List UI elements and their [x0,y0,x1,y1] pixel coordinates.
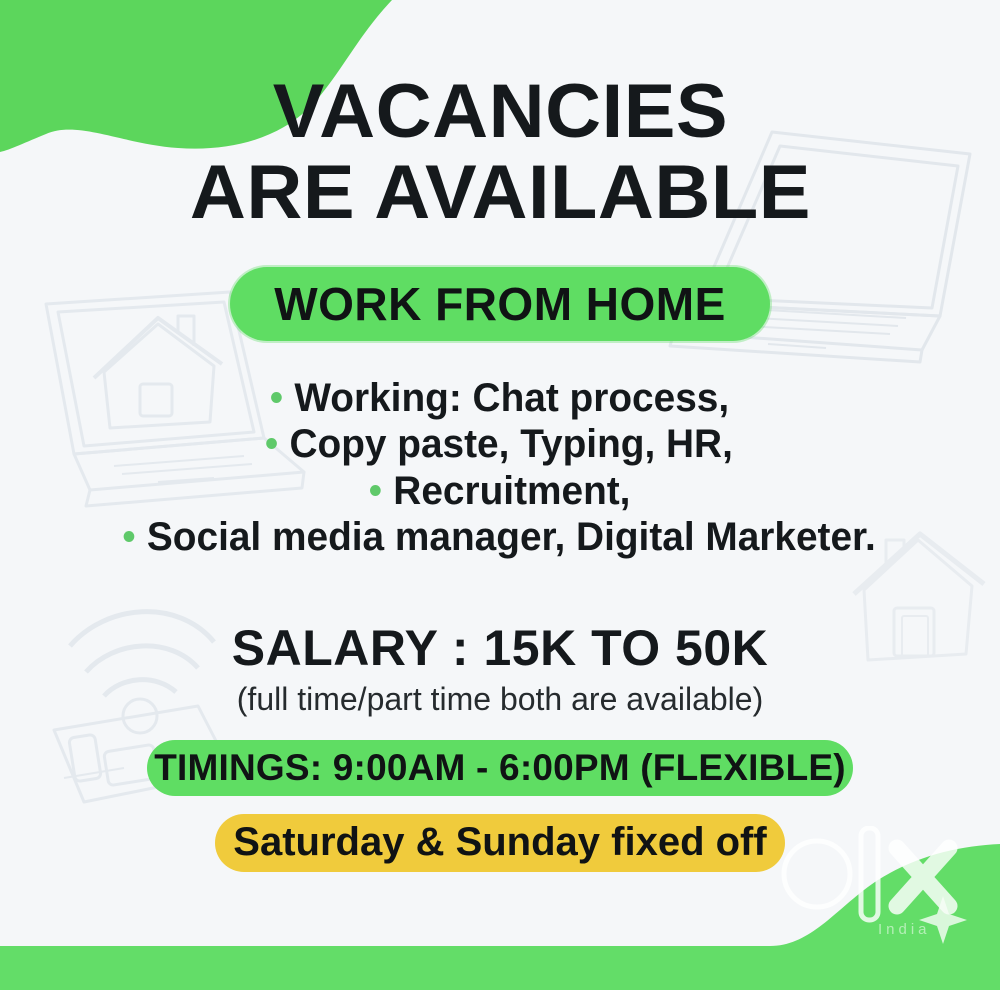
poster-content: VACANCIES ARE AVAILABLE WORK FROM HOME W… [0,0,1000,990]
list-item: Working: Chat process, [271,375,729,421]
timings-badge: TIMINGS: 9:00AM - 6:00PM (FLEXIBLE) [147,740,853,796]
work-from-home-badge: WORK FROM HOME [230,267,770,341]
page-title: VACANCIES ARE AVAILABLE [189,72,810,233]
bullet-dot-icon [267,438,278,449]
bullet-dot-icon [370,485,381,496]
job-vacancy-poster: India VACANCIES ARE AVAILABLE WORK FROM … [0,0,1000,990]
salary-note: (full time/part time both are available) [237,681,763,718]
weekend-off-badge: Saturday & Sunday fixed off [215,814,785,872]
salary-text: SALARY : 15K TO 50K [232,619,769,677]
list-item: Recruitment, [370,468,630,514]
role-label: Copy paste, Typing, HR, [290,421,733,467]
headline-line-2: ARE AVAILABLE [189,153,810,234]
role-label: Working: Chat process, [294,375,729,421]
list-item: Social media manager, Digital Marketer. [124,514,876,560]
list-item: Copy paste, Typing, HR, [267,421,734,467]
bullet-dot-icon [271,392,282,403]
role-label: Social media manager, Digital Marketer. [147,514,876,560]
role-list: Working: Chat process, Copy paste, Typin… [60,375,940,561]
bullet-dot-icon [124,531,135,542]
headline-line-1: VACANCIES [189,72,810,153]
role-label: Recruitment, [393,468,630,514]
